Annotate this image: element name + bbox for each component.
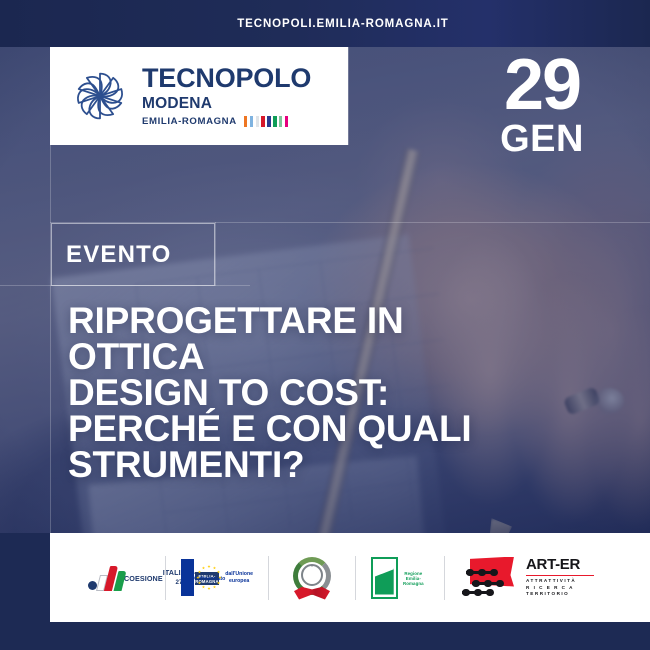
logo-color-bars — [244, 116, 289, 127]
event-month: GEN — [472, 120, 612, 158]
logo-color-bar-3 — [261, 116, 264, 127]
art-er-sub-line2: R I C E R C A — [526, 585, 594, 592]
event-type-badge: EVENTO — [51, 223, 215, 286]
event-title-line-4: STRUMENTI? — [68, 447, 628, 483]
eu-caption-line1: Cofinanziato — [194, 576, 225, 583]
eu-star-5 — [213, 585, 216, 588]
regione-mark-icon — [371, 557, 398, 599]
eu-star-0 — [207, 565, 210, 568]
event-title-line-2: DESIGN TO COST: — [68, 375, 628, 411]
logo-color-bar-1 — [250, 116, 253, 127]
logo-color-bar-6 — [279, 116, 282, 127]
art-er-sub-line1: ATTRATTIVITÀ — [526, 578, 594, 585]
event-day: 29 — [472, 52, 612, 118]
italian-republic-emblem-icon — [290, 553, 334, 603]
eu-star-7 — [202, 585, 205, 588]
eu-star-10 — [198, 570, 201, 573]
logo-line-modena: MODENA — [142, 96, 311, 112]
logo-color-bar-7 — [285, 116, 288, 127]
logo-wordmark: TECNOPOLO MODENA EMILIA-ROMAGNA — [142, 65, 311, 128]
art-er-logo: ART-ER ATTRATTIVITÀ R I C E R C A TERRIT… — [460, 549, 594, 607]
event-date: 29 GEN — [472, 52, 612, 158]
art-er-name: ART-ER — [526, 557, 594, 572]
eu-flag-icon — [181, 559, 194, 596]
art-er-rule — [526, 575, 594, 576]
art-er-mark-icon — [460, 557, 518, 599]
coesione-marks-icon — [88, 565, 124, 591]
art-er-sub-line3: TERRITORIO — [526, 591, 594, 598]
logo-color-bar-4 — [267, 116, 270, 127]
footer-separator — [355, 556, 356, 600]
european-union-logo: Cofinanziato dall'Unione europea — [181, 549, 253, 607]
regione-emilia-romagna-logo: Regione Emilia-Romagna — [371, 549, 429, 607]
event-type-label: EVENTO — [66, 241, 171, 269]
eu-star-6 — [207, 587, 210, 590]
logo-line-tecnopolo: TECNOPOLO — [142, 65, 311, 92]
eu-star-1 — [213, 566, 216, 569]
tecnopolo-logo: TECNOPOLO MODENA EMILIA-ROMAGNA — [50, 47, 348, 145]
art-er-wordmark: ART-ER ATTRATTIVITÀ R I C E R C A TERRIT… — [526, 557, 594, 598]
repubblica-italiana-emblem — [284, 549, 340, 607]
logo-color-bar-5 — [273, 116, 276, 127]
event-title-line-1: OTTICA — [68, 339, 628, 375]
logo-color-bar-2 — [256, 116, 259, 127]
eu-star-11 — [202, 566, 205, 569]
logo-line-emilia-romagna: EMILIA-ROMAGNA — [142, 117, 237, 127]
eu-caption-line2: dall'Unione europea — [225, 571, 253, 584]
footer-separator — [444, 556, 445, 600]
footer-logo-bar: COESIONE ITALIA21-27 EMILIA-ROMAGNA Cofi… — [50, 533, 650, 622]
event-title-line-3: PERCHÉ E CON QUALI — [68, 411, 628, 447]
bottom-band — [0, 622, 650, 650]
coesione-italia-logo: COESIONE ITALIA21-27 EMILIA-ROMAGNA — [88, 549, 150, 607]
eu-star-2 — [217, 570, 220, 573]
event-title-line-0: RIPROGETTARE IN — [68, 303, 628, 339]
pinwheel-icon — [72, 68, 128, 124]
event-poster: TECNOPOLI.EMILIA-ROMAGNA.IT TECNOPOLO MO… — [0, 0, 650, 650]
event-title: RIPROGETTARE INOTTICADESIGN TO COST:PERC… — [68, 303, 628, 482]
website-url: TECNOPOLI.EMILIA-ROMAGNA.IT — [0, 0, 650, 47]
coesione-title-line1: COESIONE — [124, 575, 163, 583]
footer-separator — [165, 556, 166, 600]
logo-color-bar-0 — [244, 116, 247, 127]
regione-caption: Regione Emilia-Romagna — [398, 571, 429, 586]
footer-separator — [268, 556, 269, 600]
